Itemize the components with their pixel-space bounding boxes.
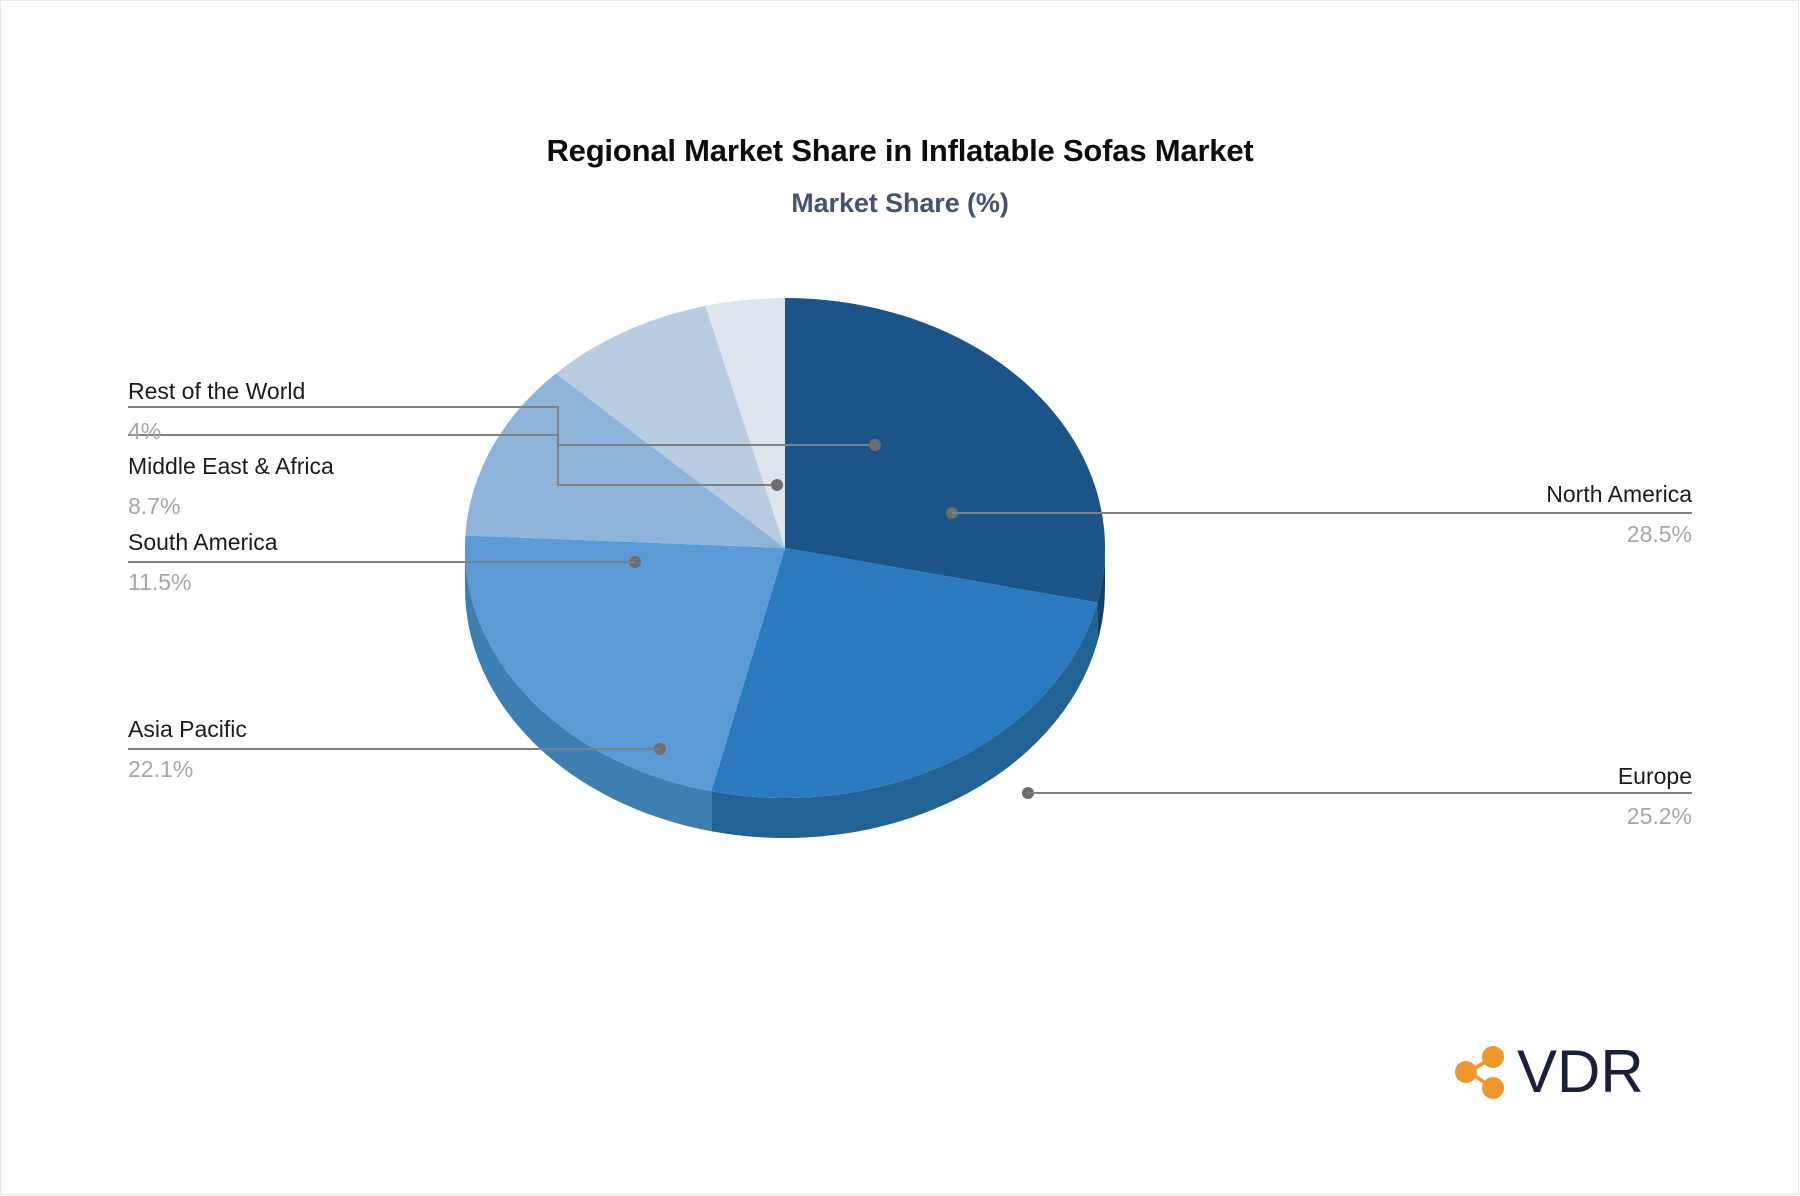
chart-canvas: Regional Market Share in Inflatable Sofa… xyxy=(0,0,1800,1196)
leader-dot-middle-east-africa xyxy=(771,479,783,491)
leader-dot-rest-of-world xyxy=(869,439,881,451)
slice-value-south-america: 11.5% xyxy=(128,571,192,594)
slice-label-north-america: North America xyxy=(1546,483,1692,506)
slice-value-middle-east-africa: 8.7% xyxy=(128,495,180,518)
slice-label-rest-of-world: Rest of the World xyxy=(128,380,305,403)
pie-top-faces xyxy=(465,298,1105,798)
slice-value-north-america: 28.5% xyxy=(1627,523,1692,546)
slice-value-europe: 25.2% xyxy=(1627,805,1692,828)
share-network-icon xyxy=(1449,1044,1511,1100)
slice-label-middle-east-africa: Middle East & Africa xyxy=(128,455,334,478)
logo-text: VDR xyxy=(1517,1042,1644,1102)
slice-label-asia-pacific: Asia Pacific xyxy=(128,718,247,741)
slice-value-asia-pacific: 22.1% xyxy=(128,758,193,781)
vdr-logo: VDR xyxy=(1449,1041,1659,1103)
pie-chart-graphic xyxy=(0,0,1800,1196)
slice-value-rest-of-world: 4% xyxy=(128,420,161,443)
slice-label-south-america: South America xyxy=(128,531,278,554)
slice-label-europe: Europe xyxy=(1618,765,1692,788)
